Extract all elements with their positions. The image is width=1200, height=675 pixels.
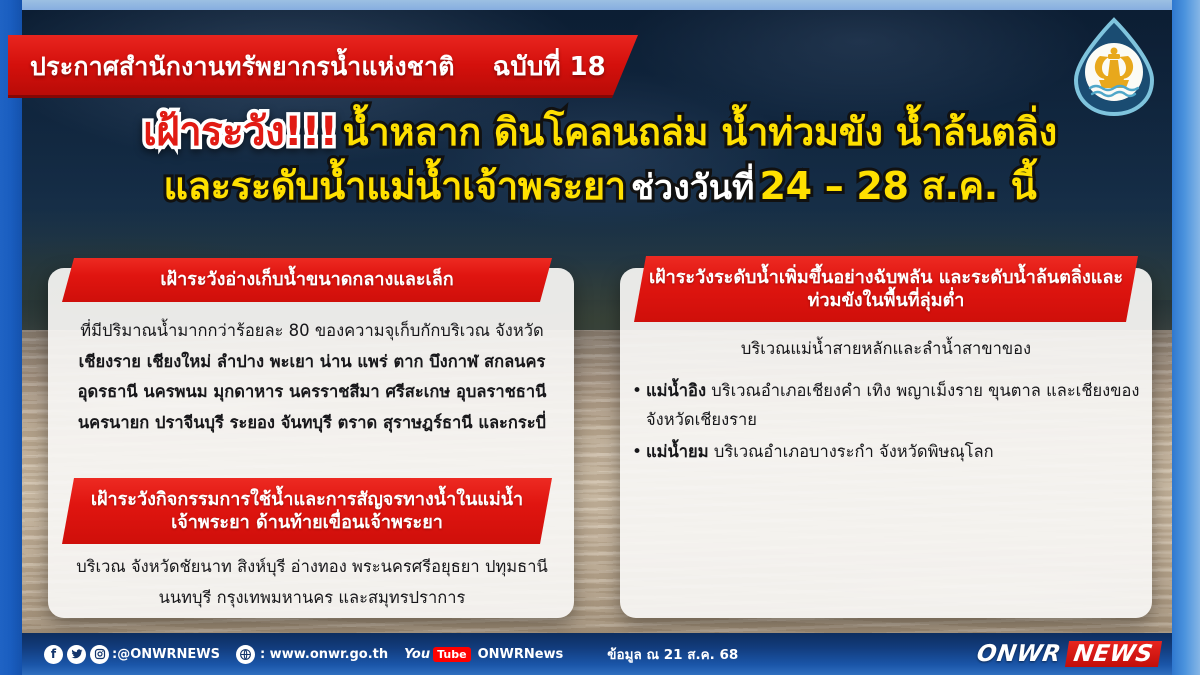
river-entry: แม่น้ำอิง บริเวณอำเภอเชียงคำ เทิง พญาเม็… [646,376,1148,435]
title-line-1: เฝ้าระวัง!!! น้ำหลาก ดินโคลนถล่ม น้ำท่วม… [0,112,1200,153]
twitter-icon[interactable] [67,645,86,664]
title-date-range: 24 – 28 ส.ค. นี้ [760,164,1037,208]
frame-right-border [1172,0,1200,675]
title-line-2: และระดับน้ำแม่น้ำเจ้าพระยา ช่วงวันที่ 24… [0,167,1200,206]
website-url[interactable]: : www.onwr.go.th [260,647,388,662]
globe-icon [236,645,255,664]
left-section2-body: บริเวณ จังหวัดชัยนาท สิงห์บุรี อ่างทอง พ… [52,552,572,613]
onwr-water-drop-emblem [1066,14,1162,118]
footer-content: f :@ONWRNEWS : www.onwr.go.th You Tube O… [22,643,738,665]
list-item: • แม่น้ำยม บริเวณอำเภอบางระกำ จังหวัดพิษ… [632,437,1148,467]
list-item: • แม่น้ำอิง บริเวณอำเภอเชียงคำ เทิง พญาเ… [632,376,1148,435]
river-list: • แม่น้ำอิง บริเวณอำเภอเชียงคำ เทิง พญาเ… [632,376,1148,469]
left-section2-header: เฝ้าระวังกิจกรรมการใช้น้ำและการสัญจรทางน… [62,478,552,544]
river-entry: แม่น้ำยม บริเวณอำเภอบางระกำ จังหวัดพิษณุ… [646,437,1148,466]
right-section1-header: เฝ้าระวังระดับน้ำเพิ่มขึ้นอย่างฉับพลัน แ… [634,256,1138,322]
youtube-you-text: You [404,647,430,662]
title-chaophraya: และระดับน้ำแม่น้ำเจ้าพระยา [164,164,626,208]
right-section1-body: บริเวณแม่น้ำสายหลักและลำน้ำสาขาของ [626,334,1146,365]
left-section1-lead: ที่มีปริมาณน้ำมากกว่าร้อยละ 80 ของความจุ… [80,321,543,340]
title-hazards: น้ำหลาก ดินโคลนถล่ม น้ำท่วมขัง น้ำล้นตลิ… [342,110,1056,154]
issue-number: ฉบับที่ 18 [455,46,606,87]
youtube-icon[interactable]: You Tube [404,647,470,662]
title-date-prefix: ช่วงวันที่ [631,168,755,208]
facebook-icon[interactable]: f [44,645,63,664]
left-section1-header-text: เฝ้าระวังอ่างเก็บน้ำขนาดกลางและเล็ก [160,268,453,291]
instagram-icon[interactable] [90,645,109,664]
announcement-banner: ประกาศสำนักงานทรัพยากรน้ำแห่งชาติ ฉบับที… [8,35,638,98]
onwr-news-logo: ONWR NEWS [975,641,1162,667]
youtube-channel: ONWRNews [478,647,564,662]
social-icon-group: f [44,645,109,664]
announcement-title: ประกาศสำนักงานทรัพยากรน้ำแห่งชาติ [8,47,455,87]
river-detail: บริเวณอำเภอเชียงคำ เทิง พญาเม็งราย ขุนตา… [646,381,1139,429]
left-section1-header: เฝ้าระวังอ่างเก็บน้ำขนาดกลางและเล็ก [62,258,552,302]
youtube-tube-text: Tube [433,647,470,662]
frame-top-border [0,0,1200,10]
data-date: ข้อมูล ณ 21 ส.ค. 68 [607,643,738,665]
social-handle: :@ONWRNEWS [112,647,220,662]
bullet-icon: • [632,437,646,467]
river-name: แม่น้ำยม [646,442,709,461]
river-name: แม่น้ำอิง [646,381,706,400]
bullet-icon: • [632,376,646,406]
right-section1-header-text: เฝ้าระวังระดับน้ำเพิ่มขึ้นอย่างฉับพลัน แ… [634,266,1138,312]
left-section1-provinces: เชียงราย เชียงใหม่ ลำปาง พะเยา น่าน แพร่… [78,352,547,432]
left-section1-body: ที่มีปริมาณน้ำมากกว่าร้อยละ 80 ของความจุ… [52,316,572,438]
main-title: เฝ้าระวัง!!! น้ำหลาก ดินโคลนถล่ม น้ำท่วม… [0,112,1200,206]
left-section2-header-text: เฝ้าระวังกิจกรรมการใช้น้ำและการสัญจรทางน… [62,488,552,534]
river-detail: บริเวณอำเภอบางระกำ จังหวัดพิษณุโลก [714,442,994,461]
alert-word: เฝ้าระวัง!!! [143,109,337,155]
frame-left-border [0,0,22,675]
brand-onwr-text: ONWR [975,641,1063,667]
brand-news-text: NEWS [1065,641,1162,667]
